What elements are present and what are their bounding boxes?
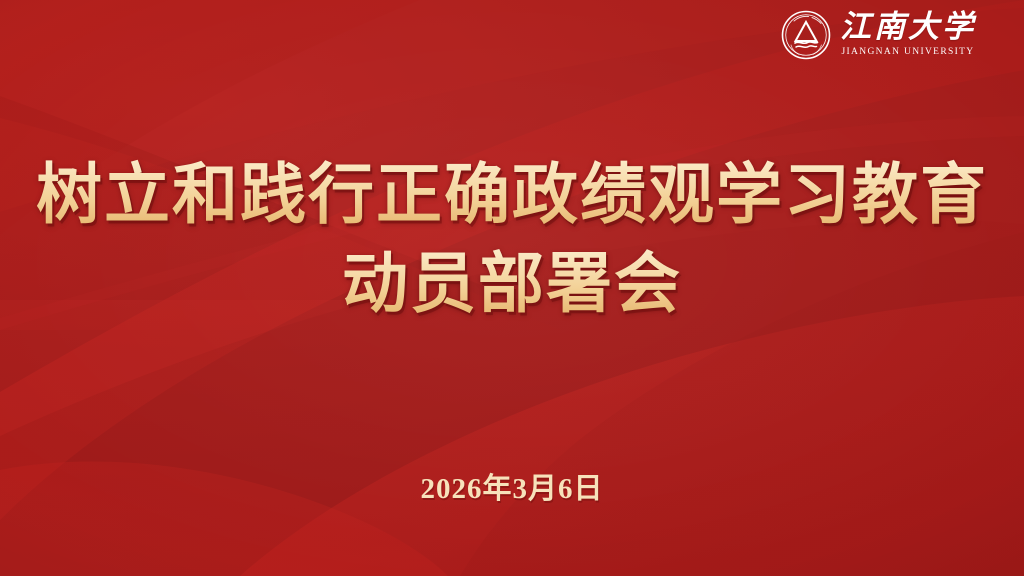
- presentation-slide: 江南大学 JIANGNAN UNIVERSITY 树立和践行正确政绩观学习教育 …: [0, 0, 1024, 576]
- university-logo: 江南大学 JIANGNAN UNIVERSITY: [781, 10, 976, 60]
- jiangnan-university-emblem-icon: [781, 10, 831, 60]
- logo-wordmark: 江南大学 JIANGNAN UNIVERSITY: [840, 11, 976, 58]
- title-line-2: 动员部署会: [28, 241, 996, 328]
- slide-date: 2026年3月6日: [0, 465, 1024, 507]
- logo-name-en: JIANGNAN UNIVERSITY: [841, 47, 974, 57]
- logo-name-cn: 江南大学: [840, 11, 976, 43]
- title-line-1: 树立和践行正确政绩观学习教育: [28, 152, 996, 239]
- slide-title: 树立和践行正确政绩观学习教育 动员部署会: [0, 152, 1024, 328]
